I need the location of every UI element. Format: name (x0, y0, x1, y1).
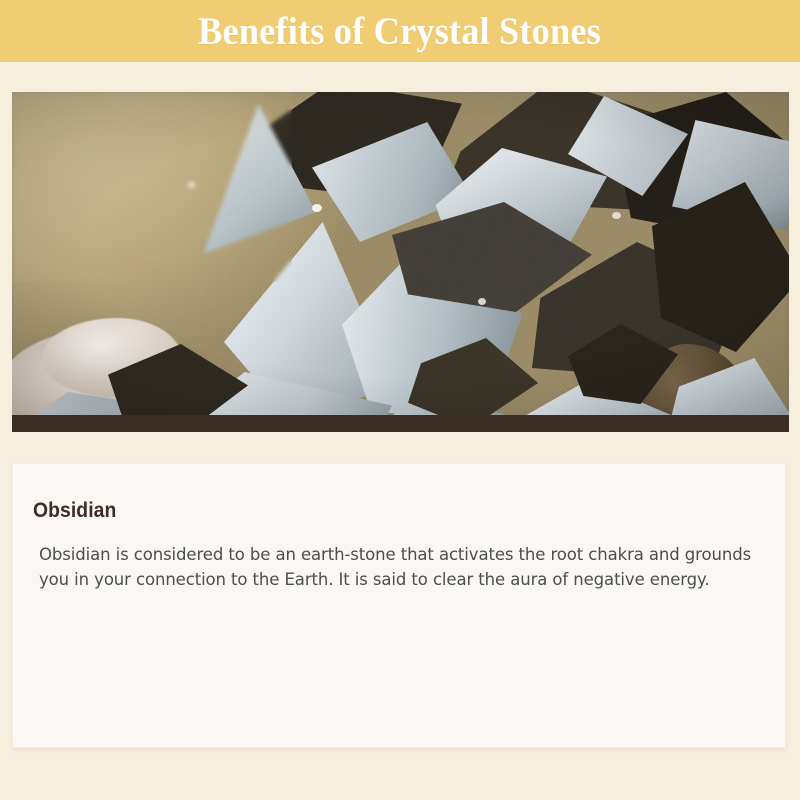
photo-bottom-bar (12, 415, 789, 432)
description-card: Obsidian Obsidian is considered to be an… (12, 463, 786, 748)
page-title: Benefits of Crystal Stones (199, 12, 602, 51)
hero-image-block (12, 92, 789, 432)
photo-vignette-overlay (12, 92, 789, 415)
stone-name-heading: Obsidian (33, 500, 116, 521)
crystal-stone-photo (12, 92, 789, 415)
stone-description-text: Obsidian is considered to be an earth-st… (39, 542, 781, 592)
page-root: Benefits of Crystal Stones (0, 0, 800, 800)
header-banner: Benefits of Crystal Stones (0, 0, 800, 62)
